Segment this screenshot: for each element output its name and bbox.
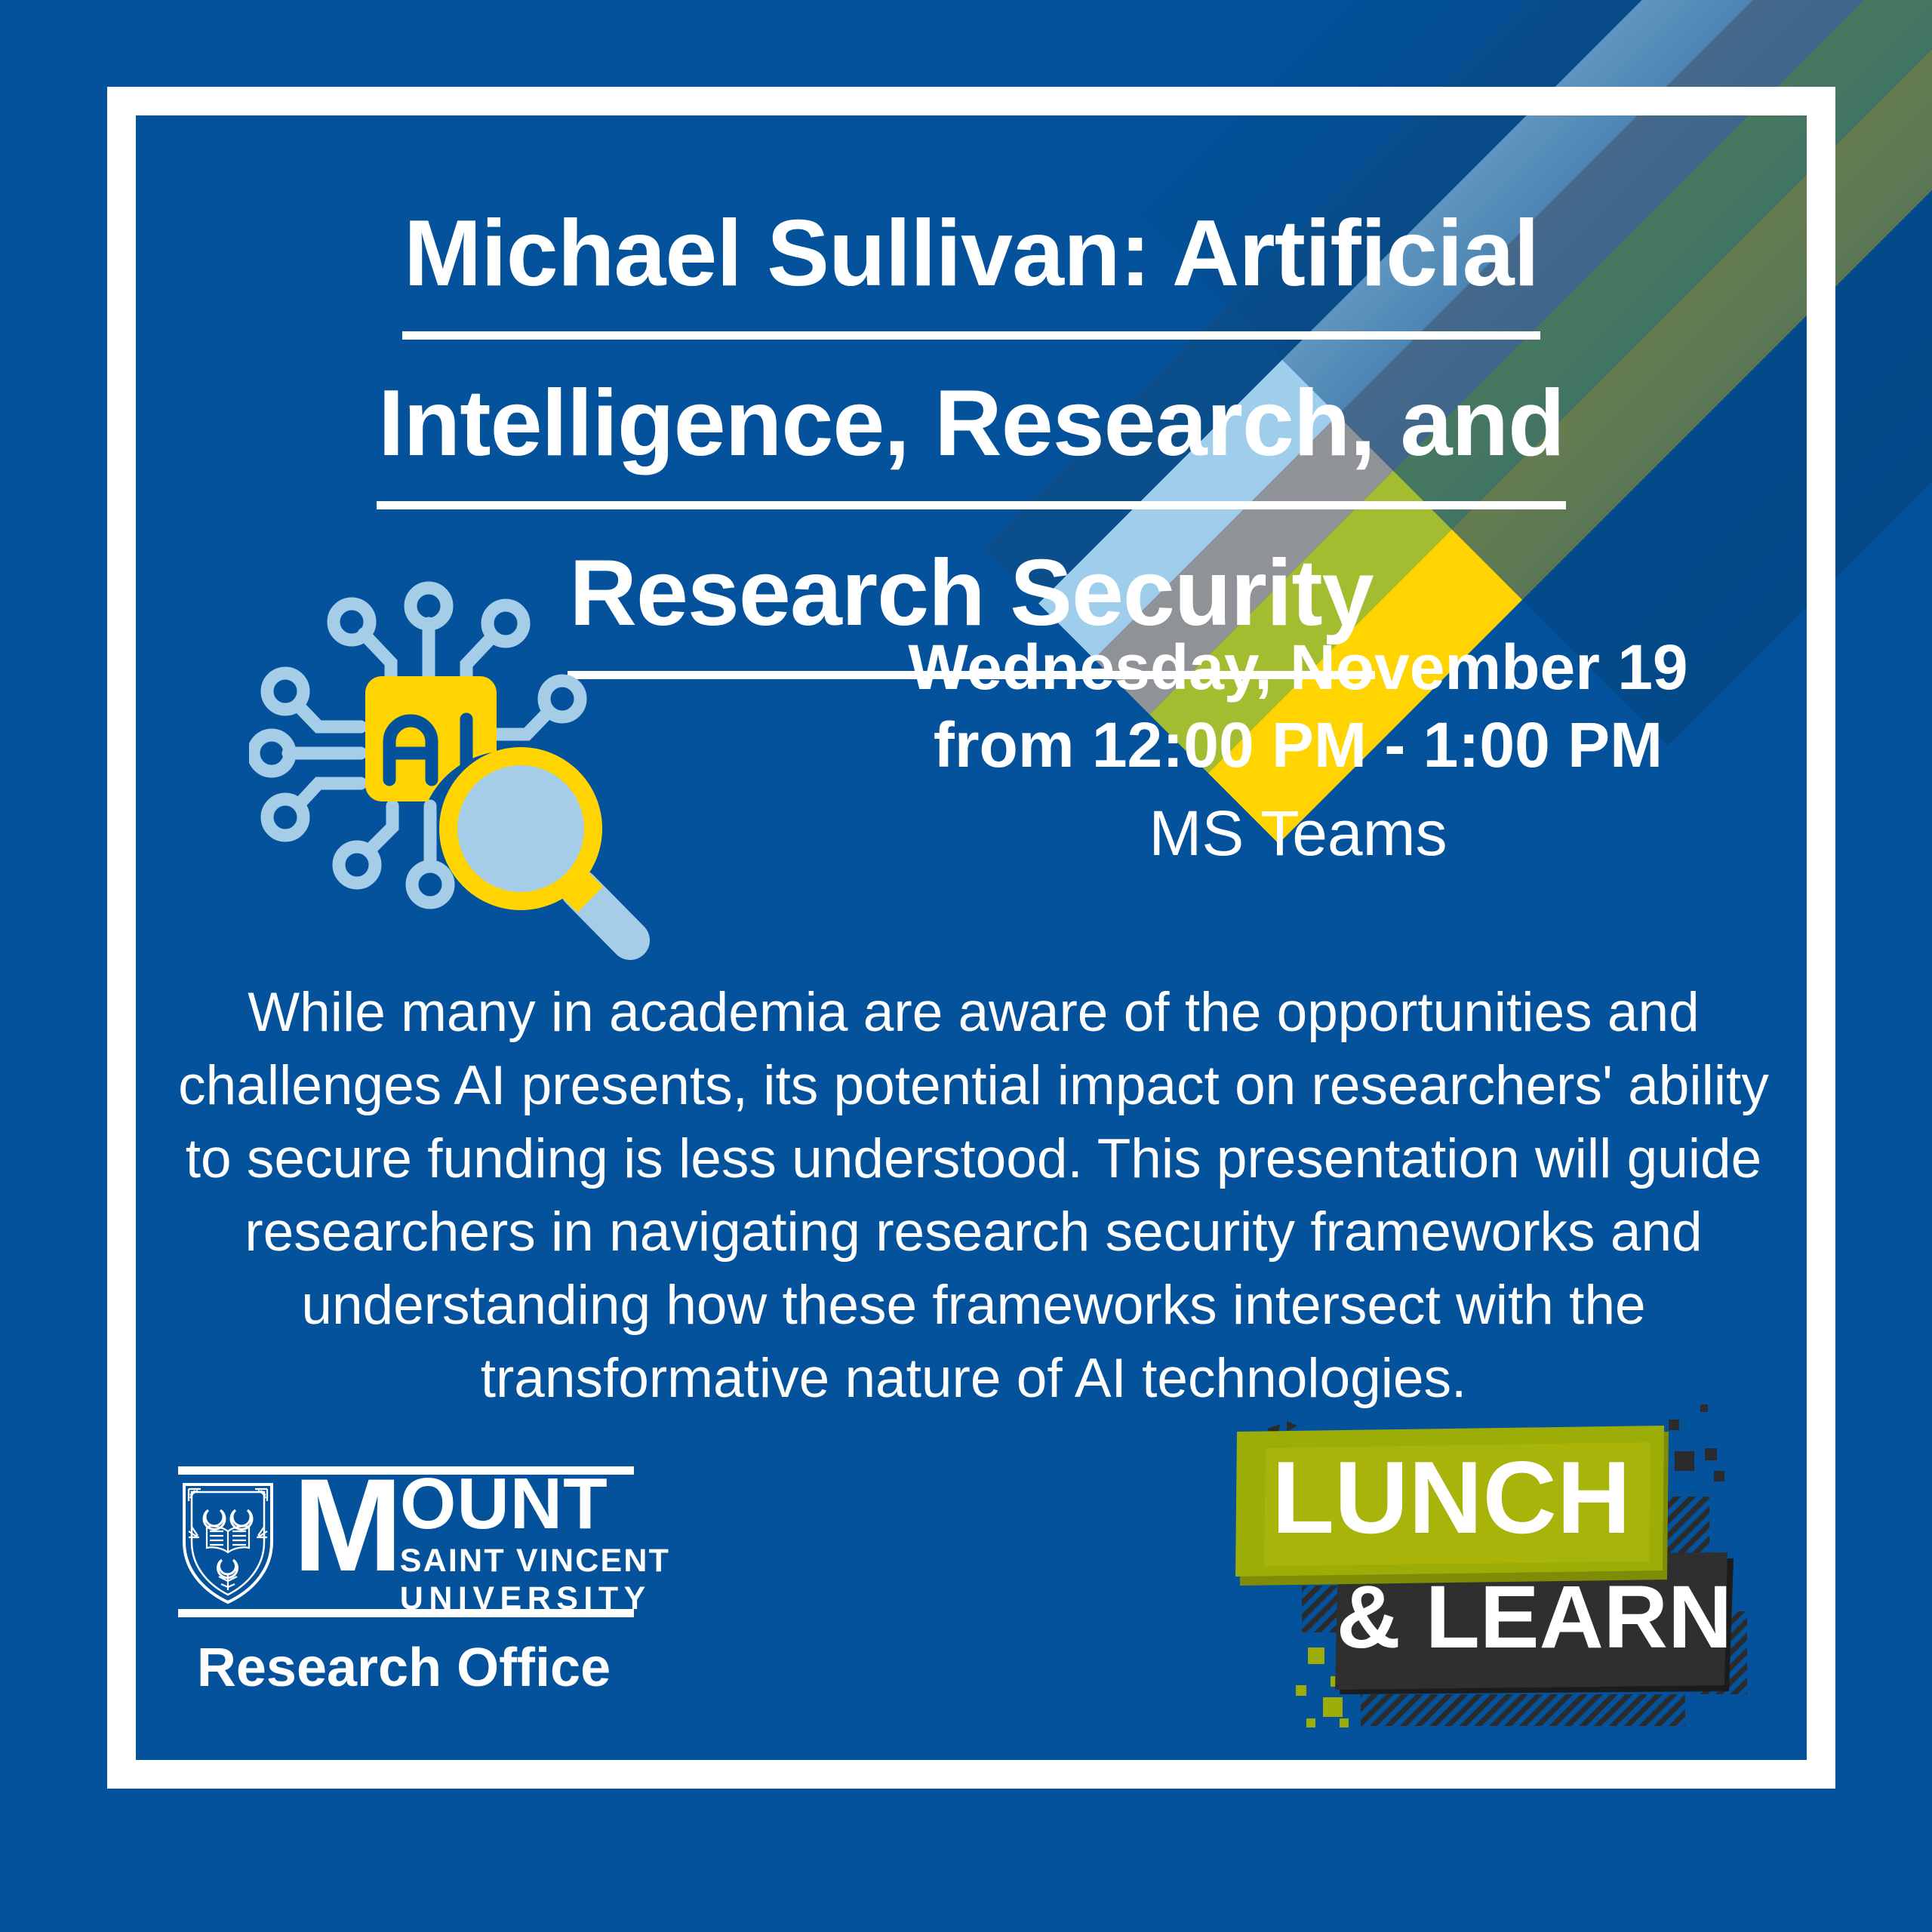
event-description: While many in academia are aware of the … — [158, 976, 1789, 1415]
msvu-crest-icon — [178, 1478, 278, 1608]
event-venue: MS Teams — [815, 792, 1781, 875]
ai-chip-magnifier-icon — [249, 565, 672, 987]
logo-letter-m: M — [293, 1470, 398, 1581]
logo-department-label: Research Office — [174, 1637, 634, 1699]
logo-word-mount: OUNT — [400, 1475, 670, 1534]
badge-line-1-text: LUNCH — [1272, 1440, 1631, 1555]
event-date: Wednesday, November 19 — [815, 629, 1781, 706]
event-details: Wednesday, November 19 from 12:00 PM - 1… — [815, 629, 1781, 875]
badge-line-2-text: & LEARN — [1337, 1567, 1732, 1667]
title-line-2: Intelligence, Research, and — [377, 353, 1566, 509]
event-poster: Michael Sullivan: Artificial Intelligenc… — [0, 0, 1932, 1932]
title-line-1: Michael Sullivan: Artificial — [402, 183, 1540, 340]
logo-word-saint-vincent: SAINT VINCENT — [400, 1541, 670, 1580]
lunch-and-learn-badge: LUNCH & LEARN LUNCH & LEARN — [1234, 1398, 1762, 1730]
event-time: from 12:00 PM - 1:00 PM — [815, 706, 1781, 784]
logo-word-university: UNIVERSITY — [400, 1581, 670, 1617]
msvu-research-office-logo: M OUNT SAINT VINCENT UNIVERSITY Research… — [174, 1466, 702, 1699]
poster-content: Michael Sullivan: Artificial Intelligenc… — [136, 115, 1807, 1760]
